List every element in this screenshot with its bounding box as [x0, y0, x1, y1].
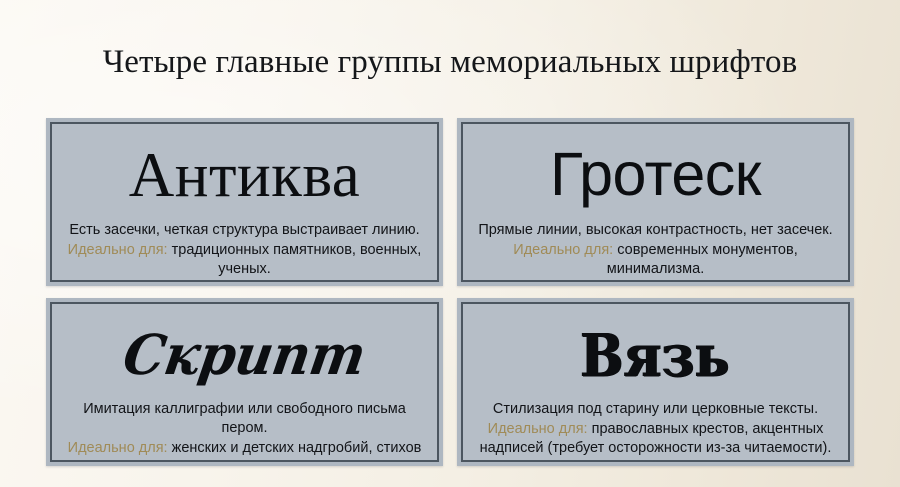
specimen-word-skript: Скрипт	[120, 328, 369, 383]
font-group-card-antikva[interactable]: Антиква Есть засечки, четкая структура в…	[46, 118, 443, 286]
font-group-card-skript[interactable]: Скрипт Имитация каллиграфии или свободно…	[46, 298, 443, 466]
card-recommendation-antikva: Идеально для: традиционных памятников, в…	[62, 241, 427, 279]
recommendation-value: женских и детских надгробий, стихов и эп…	[168, 440, 422, 462]
specimen-word-antikva: Антиква	[129, 144, 360, 207]
card-body: Антиква Есть засечки, четкая структура в…	[50, 122, 439, 282]
card-body: Вязь Стилизация под старину или церковны…	[461, 302, 850, 462]
card-body: Скрипт Имитация каллиграфии или свободно…	[50, 302, 439, 462]
card-description-antikva: Есть засечки, четкая структура выстраива…	[69, 221, 419, 240]
slide-canvas: Четыре главные группы мемориальных шрифт…	[0, 0, 900, 487]
card-body: Гротеск Прямые линии, высокая контрастно…	[461, 122, 850, 282]
recommendation-label: Идеально для:	[68, 440, 168, 456]
specimen-word-vyaz: Вязь	[581, 325, 730, 384]
font-group-card-grotesk[interactable]: Гротеск Прямые линии, высокая контрастно…	[457, 118, 854, 286]
font-group-card-vyaz[interactable]: Вязь Стилизация под старину или церковны…	[457, 298, 854, 466]
recommendation-label: Идеально для:	[488, 421, 588, 437]
card-recommendation-skript: Идеально для: женских и детских надгроби…	[62, 439, 427, 462]
recommendation-value: традиционных памятников, военных, ученых…	[168, 242, 422, 277]
card-recommendation-vyaz: Идеально для: православных крестов, акце…	[473, 420, 838, 458]
recommendation-value: современных монументов, минимализма.	[607, 242, 798, 277]
card-description-grotesk: Прямые линии, высокая контрастность, нет…	[478, 221, 832, 240]
font-group-grid: Антиква Есть засечки, четкая структура в…	[46, 118, 854, 466]
card-description-skript: Имитация каллиграфии или свободного пись…	[62, 400, 427, 438]
recommendation-label: Идеально для:	[68, 242, 168, 258]
card-recommendation-grotesk: Идеально для: современных монументов, ми…	[473, 241, 838, 279]
recommendation-label: Идеально для:	[513, 242, 613, 258]
page-title: Четыре главные группы мемориальных шрифт…	[0, 42, 900, 82]
card-description-vyaz: Стилизация под старину или церковные тек…	[493, 400, 818, 419]
specimen-word-grotesk: Гротеск	[550, 144, 761, 205]
